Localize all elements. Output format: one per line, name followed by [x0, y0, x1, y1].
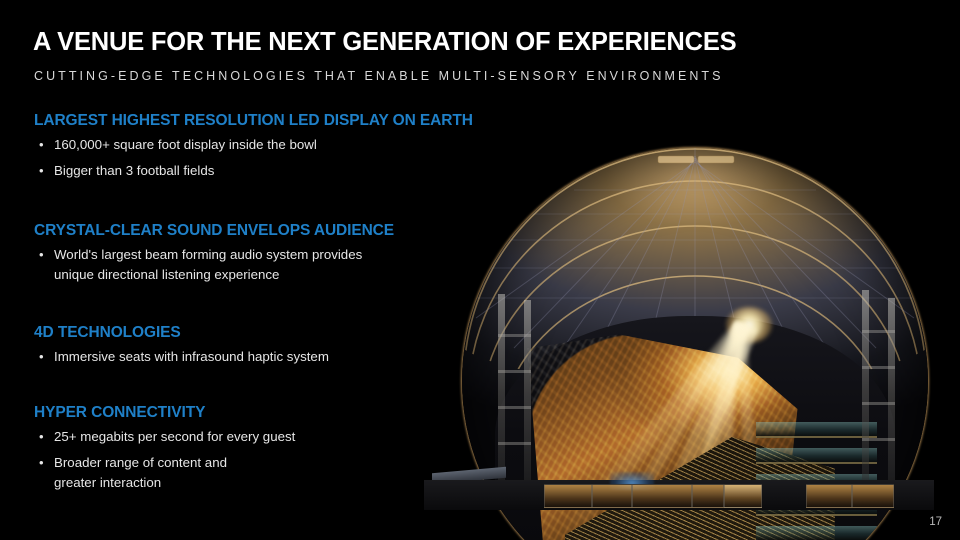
structural-brace: [862, 402, 895, 405]
list-item: • 25+ megabits per second for every gues…: [34, 427, 464, 447]
venue-base-plinth: [424, 454, 934, 510]
section-4d-technologies: 4D TECHNOLOGIES • Immersive seats with i…: [34, 324, 464, 373]
concourse-level: [756, 526, 877, 540]
lobby-window: [632, 484, 692, 508]
venue-render-image: [420, 132, 960, 522]
bullet-text: 25+ megabits per second for every guest: [54, 427, 464, 447]
lobby-window: [852, 484, 894, 508]
structural-brace: [862, 330, 895, 333]
section-hyper-connectivity: HYPER CONNECTIVITY • 25+ megabits per se…: [34, 404, 464, 499]
page-number: 17: [929, 516, 942, 528]
structural-brace: [498, 334, 531, 337]
bullet-text: 160,000+ square foot display inside the …: [54, 135, 464, 155]
lobby-window: [692, 484, 724, 508]
list-item: • Immersive seats with infrasound haptic…: [34, 347, 464, 367]
list-item: • World's largest beam forming audio sys…: [34, 245, 464, 285]
list-item: • Bigger than 3 football fields: [34, 161, 464, 181]
bullet-text: Bigger than 3 football fields: [54, 161, 464, 181]
lobby-window: [592, 484, 632, 508]
lobby-window: [724, 484, 762, 508]
bullet-icon: •: [39, 427, 44, 447]
section-heading: LARGEST HIGHEST RESOLUTION LED DISPLAY O…: [34, 112, 464, 130]
bullet-icon: •: [39, 453, 44, 473]
structural-brace: [862, 438, 895, 441]
lobby-window: [544, 484, 592, 508]
section-sound: CRYSTAL-CLEAR SOUND ENVELOPS AUDIENCE • …: [34, 222, 464, 291]
bullet-list: • Immersive seats with infrasound haptic…: [34, 347, 464, 367]
lobby-window: [806, 484, 852, 508]
section-led-display: LARGEST HIGHEST RESOLUTION LED DISPLAY O…: [34, 112, 464, 187]
bullet-list: • 25+ megabits per second for every gues…: [34, 427, 464, 493]
list-item: • 160,000+ square foot display inside th…: [34, 135, 464, 155]
section-heading: 4D TECHNOLOGIES: [34, 324, 464, 342]
structural-brace: [498, 406, 531, 409]
bullet-list: • 160,000+ square foot display inside th…: [34, 135, 464, 181]
bullet-icon: •: [39, 245, 44, 265]
bullet-icon: •: [39, 347, 44, 367]
section-heading: HYPER CONNECTIVITY: [34, 404, 464, 422]
slide-title: A VENUE FOR THE NEXT GENERATION OF EXPER…: [33, 28, 736, 57]
concourse-level: [756, 422, 877, 438]
section-heading: CRYSTAL-CLEAR SOUND ENVELOPS AUDIENCE: [34, 222, 464, 240]
bullet-icon: •: [39, 135, 44, 155]
bullet-text: Immersive seats with infrasound haptic s…: [54, 347, 464, 367]
bullet-icon: •: [39, 161, 44, 181]
structural-brace: [498, 442, 531, 445]
list-item: • Broader range of content and greater i…: [34, 453, 464, 493]
bullet-list: • World's largest beam forming audio sys…: [34, 245, 464, 285]
slide-subtitle: CUTTING-EDGE TECHNOLOGIES THAT ENABLE MU…: [34, 69, 724, 83]
presentation-slide: A VENUE FOR THE NEXT GENERATION OF EXPER…: [0, 0, 960, 540]
bullet-text: World's largest beam forming audio syste…: [54, 245, 464, 285]
bullet-text: Broader range of content and greater int…: [54, 453, 464, 493]
structural-brace: [862, 366, 895, 369]
structural-brace: [498, 370, 531, 373]
